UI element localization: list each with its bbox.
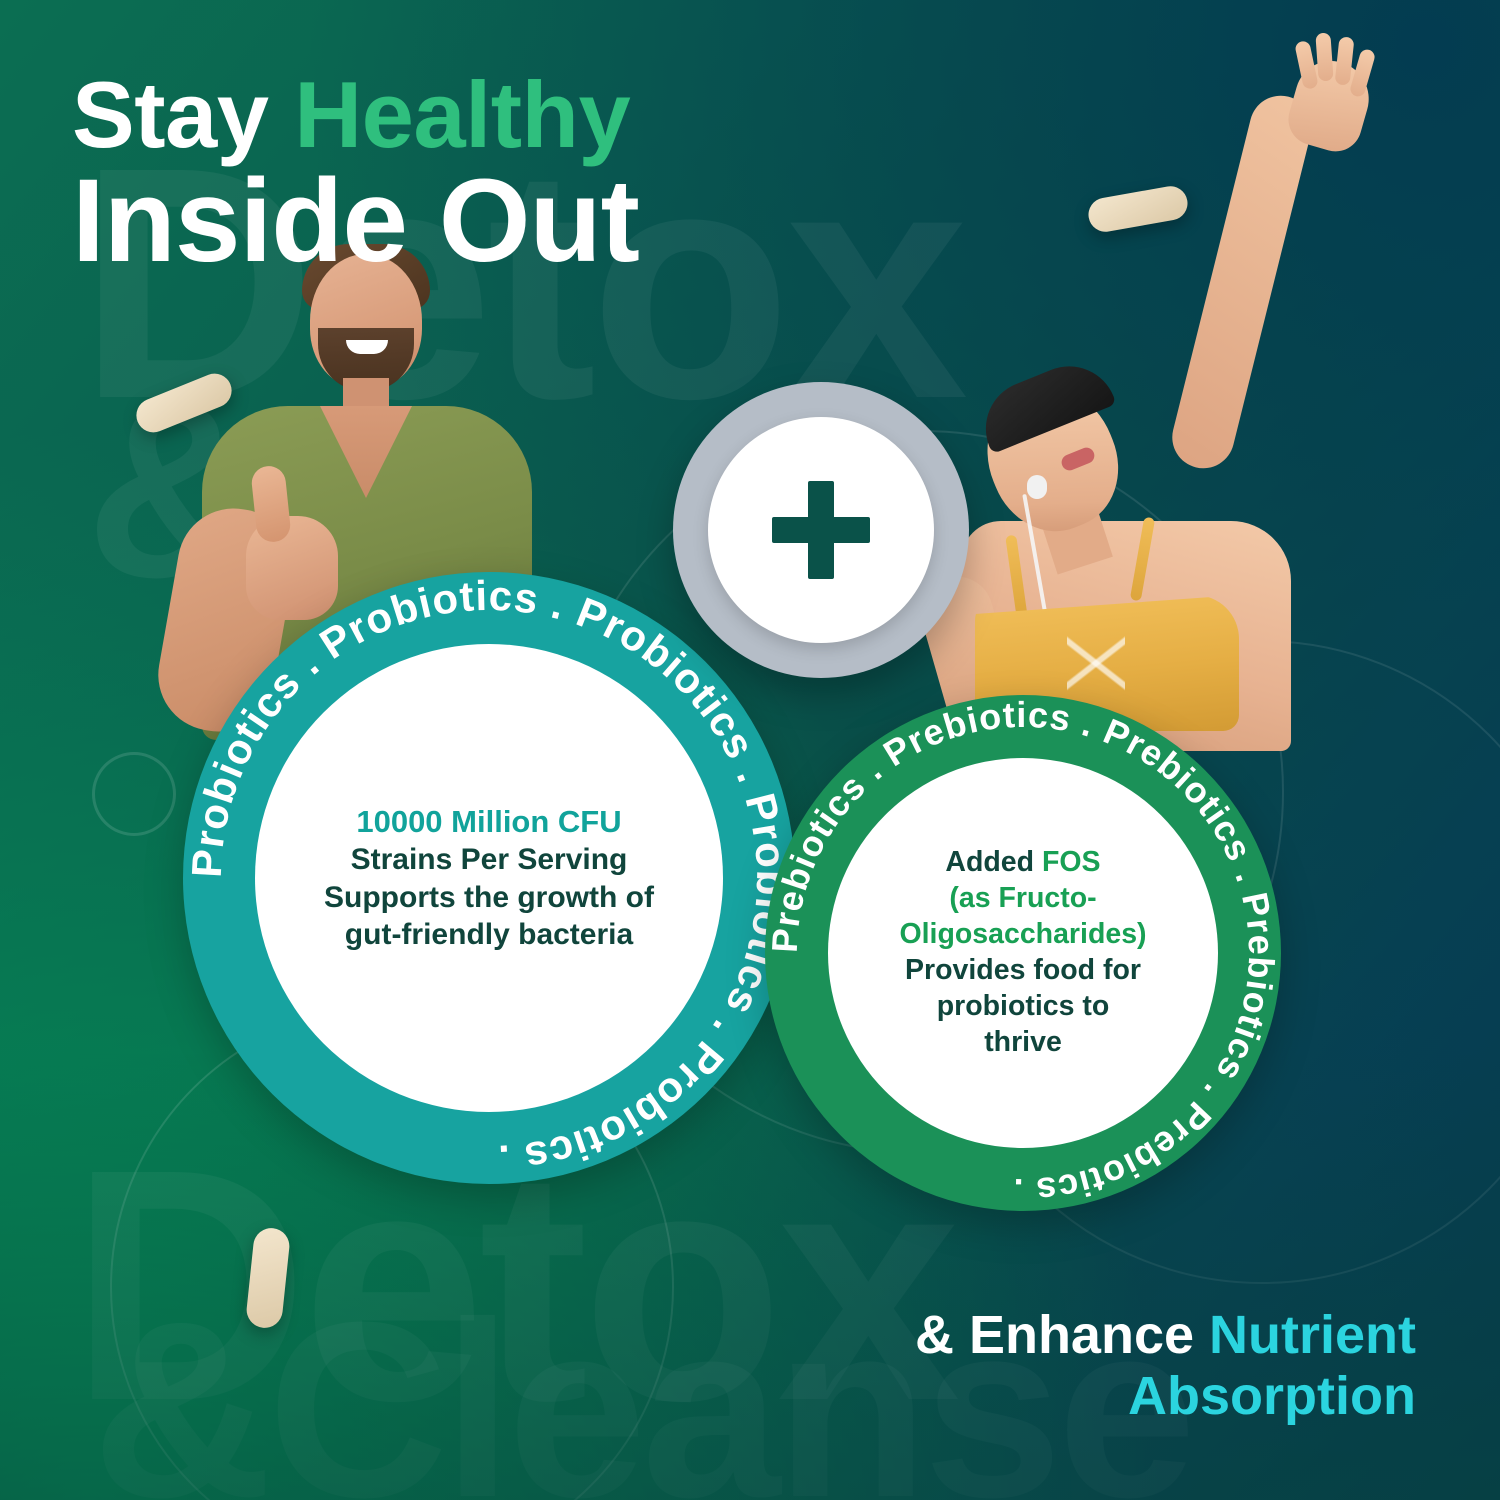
prebiotics-line-5: probiotics to [937,990,1110,1022]
headline-stay: Stay [72,62,294,167]
headline-line-1: Stay Healthy [72,70,639,159]
probiotics-inner-circle: 10000 Million CFU Strains Per Serving Su… [255,644,723,1112]
photo-woman-arm-raised [955,55,1425,695]
woman-raised-arm [1166,89,1319,475]
earbud-icon [1027,475,1047,499]
prebiotics-line-3: Oligosaccharides) [899,917,1146,953]
footer-tagline: & Enhance Nutrient Absorption [915,1305,1416,1428]
prebiotics-line-6: thrive [984,1026,1062,1058]
decorative-circle-small [92,752,176,836]
prebiotics-line-2: (as Fructo- [899,881,1146,917]
prebiotics-copy: Added FOS (as Fructo- Oligosaccharides) … [865,845,1180,1060]
probiotics-line-1: Strains Per Serving [351,843,628,876]
infographic-canvas: Detox & Detox &Cleanse [0,0,1500,1500]
headline-line-2: Inside Out [72,165,639,277]
badge-probiotics[interactable]: Probiotics . Probiotics . Probiotics . P… [183,572,795,1184]
headline-healthy: Healthy [294,62,630,167]
probiotics-line-3: gut-friendly bacteria [345,918,633,951]
woman-bra-lacing [1067,621,1125,703]
footer-nutrient: Nutrient [1209,1305,1416,1365]
prebiotics-fos: FOS [1042,846,1101,878]
probiotics-line-2: Supports the growth of [324,881,654,914]
plus-badge-inner [708,417,934,643]
prebiotics-inner-circle: Added FOS (as Fructo- Oligosaccharides) … [828,758,1218,1148]
prebiotics-added: Added [945,846,1042,878]
probiotics-copy: 10000 Million CFU Strains Per Serving Su… [290,802,688,954]
headline: Stay Healthy Inside Out [72,70,639,277]
footer-enhance: & Enhance [915,1305,1209,1365]
probiotics-cfu-highlight: 10000 Million CFU [324,802,654,841]
footer-absorption: Absorption [1128,1366,1416,1426]
plus-icon [772,481,870,579]
badge-prebiotics[interactable]: Prebiotics . Prebiotics . Prebiotics . P… [765,695,1281,1211]
prebiotics-line-4: Provides food for [905,954,1141,986]
plus-badge [673,382,969,678]
